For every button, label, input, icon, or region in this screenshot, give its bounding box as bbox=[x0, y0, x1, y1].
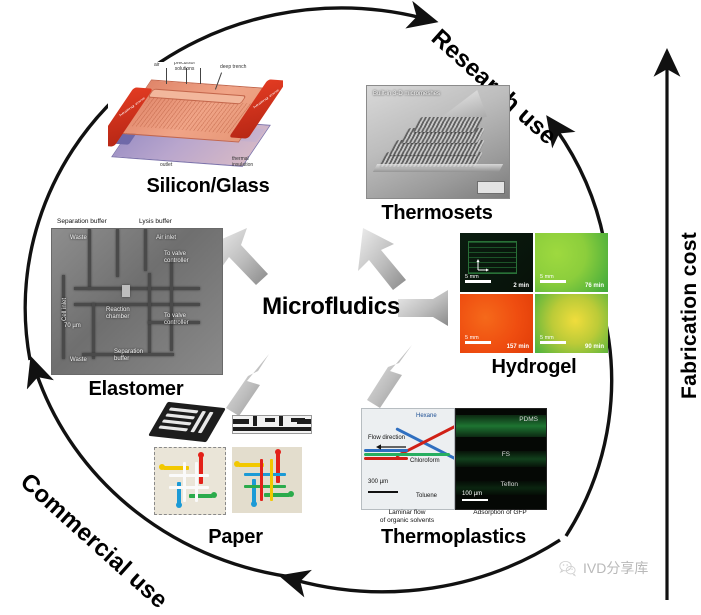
el-valve-top: To valve controller bbox=[164, 251, 189, 264]
node-thermosets: Built-in 3-D micromeshes Thermosets bbox=[366, 85, 508, 225]
figure-canvas: Research use Commercial use Fabrication … bbox=[0, 0, 701, 611]
caption-elastomer: Elastomer bbox=[51, 378, 221, 401]
tp-fs: FS bbox=[502, 451, 510, 458]
tp-caption-right: Adsorption of GFP bbox=[455, 509, 545, 517]
el-waste-bottom: Waste bbox=[70, 357, 87, 364]
hydrogel-tile-3: 5 mm 90 min bbox=[535, 294, 608, 353]
hydrogel-time-3: 90 min bbox=[585, 344, 604, 350]
tp-flow-direction: Flow direction bbox=[368, 435, 405, 441]
el-air-inlet: Air inlet bbox=[156, 235, 176, 242]
paper-chip-cross-section bbox=[232, 415, 312, 434]
paper-device-a bbox=[154, 447, 226, 515]
el-reaction-chamber: Reaction chamber bbox=[106, 307, 130, 320]
tp-hexane: Hexane bbox=[416, 413, 437, 419]
caption-thermoplastics: Thermoplastics bbox=[361, 526, 546, 549]
el-waste-top: Waste bbox=[70, 235, 87, 242]
ann-outlet: outlet bbox=[160, 162, 172, 168]
arrow-from-thermosets bbox=[358, 228, 406, 290]
tp-chloroform: Chloroform bbox=[410, 458, 440, 464]
tp-scale-left: 300 µm bbox=[368, 479, 388, 485]
hydrogel-scale-0: 5 mm bbox=[465, 274, 479, 280]
caption-thermosets: Thermosets bbox=[366, 202, 508, 225]
paper-device-b bbox=[232, 447, 302, 513]
el-lysis-buffer: Lysis buffer bbox=[139, 218, 172, 225]
el-valve-bottom: To valve controller bbox=[164, 313, 189, 326]
hydrogel-scale-3: 5 mm bbox=[540, 335, 554, 341]
hydrogel-scale-2: 5 mm bbox=[465, 335, 479, 341]
tp-scale-right: 100 µm bbox=[462, 491, 482, 497]
silicon-glass-image: quench zone heating zone heating zone ai… bbox=[108, 62, 283, 172]
node-silicon-glass: quench zone heating zone heating zone ai… bbox=[108, 62, 308, 198]
laminar-flow-panel: Hexane Chloroform Toluene Flow direction… bbox=[361, 408, 455, 510]
ann-precursor: precursor solutions bbox=[174, 62, 195, 72]
hydrogel-scale-1: 5 mm bbox=[540, 274, 554, 280]
caption-silicon-glass: Silicon/Glass bbox=[108, 175, 308, 198]
thermosets-sem-caption: Built-in 3-D micromeshes bbox=[373, 91, 440, 97]
watermark-text: IVD分享库 bbox=[583, 558, 648, 578]
el-cell-inlet: Cell inlet bbox=[62, 298, 69, 321]
tp-pdms: PDMS bbox=[519, 416, 538, 423]
tp-toluene: Toluene bbox=[416, 493, 437, 499]
tp-caption-left: Laminar flow of organic solvents bbox=[361, 509, 453, 525]
ann-thermal-insulation: thermal insulation bbox=[232, 156, 253, 168]
el-scale: 70 µm bbox=[64, 323, 81, 330]
elastomer-image: Waste Air inlet To valve controller Cell… bbox=[51, 228, 223, 375]
thermosets-scalebar bbox=[477, 181, 505, 194]
ann-air: air bbox=[154, 62, 160, 68]
thermosets-image: Built-in 3-D micromeshes bbox=[366, 85, 510, 199]
thermoplastics-image: Hexane Chloroform Toluene Flow direction… bbox=[361, 408, 546, 523]
el-sep-buffer-top: Separation buffer bbox=[57, 218, 107, 225]
arc-upper-right bbox=[556, 129, 604, 240]
hydrogel-time-1: 76 min bbox=[585, 283, 604, 289]
el-sep-buffer-bottom: Separation buffer bbox=[114, 349, 143, 362]
hydrogel-tile-2: 5 mm 157 min bbox=[460, 294, 533, 353]
hydrogel-tile-1: 5 mm 76 min bbox=[535, 233, 608, 292]
node-hydrogel: 5 mm 2 min 5 mm 76 min 5 mm 157 min 5 mm… bbox=[460, 233, 608, 379]
node-elastomer: Separation buffer Lysis buffer Waste Air… bbox=[51, 228, 221, 401]
caption-paper: Paper bbox=[148, 526, 323, 549]
caption-hydrogel: Hydrogel bbox=[460, 356, 608, 379]
gfp-adsorption-panel: PDMS FS Teflon 100 µm bbox=[455, 408, 547, 510]
hydrogel-image: 5 mm 2 min 5 mm 76 min 5 mm 157 min 5 mm… bbox=[460, 233, 608, 353]
paper-chip-3d bbox=[148, 402, 226, 443]
watermark: IVD分享库 bbox=[558, 558, 648, 578]
center-label: Microfludics bbox=[246, 293, 416, 321]
arrow-from-thermoplastics bbox=[367, 345, 412, 408]
hydrogel-time-2: 157 min bbox=[507, 344, 529, 350]
hydrogel-time-0: 2 min bbox=[513, 283, 529, 289]
wechat-icon bbox=[558, 559, 577, 578]
tp-teflon: Teflon bbox=[501, 481, 518, 488]
fabrication-cost-label: Fabrication cost bbox=[678, 232, 701, 399]
hydrogel-tile-0: 5 mm 2 min bbox=[460, 233, 533, 292]
node-thermoplastics: Hexane Chloroform Toluene Flow direction… bbox=[361, 408, 546, 549]
paper-image bbox=[148, 403, 323, 523]
ann-deep-trench: deep trench bbox=[220, 64, 246, 70]
node-paper: Paper bbox=[148, 403, 323, 549]
